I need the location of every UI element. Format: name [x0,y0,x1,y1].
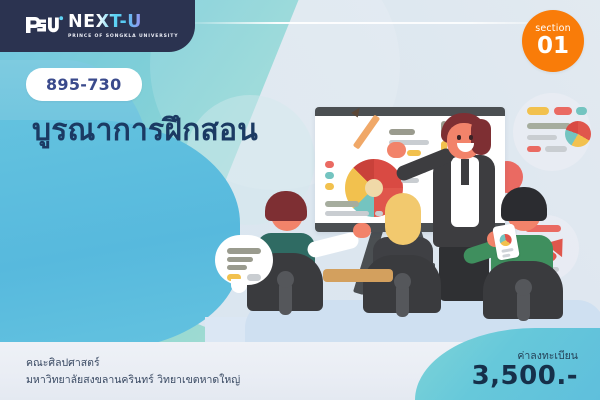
attendee-3-hair [501,187,547,221]
pie-chart-center [365,179,383,197]
presenter-hair-side [471,119,491,155]
whiteboard-top-frame [315,107,505,116]
presenter-tie [461,159,469,185]
desk-surface [323,269,393,282]
logo-tagline: PRINCE OF SONGKLA UNIVERSITY [68,34,178,39]
attendee-1-chair-knob [277,271,294,288]
attendee-2-chair-knob [394,273,411,290]
section-badge-label: section [535,24,571,34]
psu-next-u-logo: NEXT-Ü PRINCE OF SONGKLA UNIVERSITY [24,13,178,39]
section-badge: section 01 [522,10,584,72]
faculty-name: คณะศิลปศาสตร์ [26,355,240,371]
phone-pie-chart [499,233,513,247]
attendee-2-hair [385,193,421,245]
footer: คณะศิลปศาสตร์ มหาวิทยาลัยสงขลานครินทร์ ว… [0,342,600,400]
mini-pie-chart-icon [565,121,591,147]
header-divider-line [180,22,570,24]
price-block: ค่าลงทะเบียน 3,500.- [472,350,578,390]
section-badge-number: 01 [537,35,569,58]
chat-bubble-icon [215,235,273,285]
attendee-1-hand [353,223,371,238]
institution-info: คณะศิลปศาสตร์ มหาวิทยาลัยสงขลานครินทร์ ว… [26,355,240,388]
course-promo-card: NEXT-Ü PRINCE OF SONGKLA UNIVERSITY sect… [0,0,600,400]
attendee-3-chair-knob [515,279,532,296]
presenter-hand [387,142,406,158]
classroom-presentation-illustration [195,85,600,360]
presenter-eye-left [457,135,461,140]
course-code-pill: 895-730 [26,68,142,101]
psu-monogram-icon [24,13,64,37]
presenter-eye-right [469,135,473,140]
university-name: มหาวิทยาลัยสงขลานครินทร์ วิทยาเขตหาดใหญ่ [26,372,240,388]
price-value: 3,500.- [472,363,578,390]
logo-wordmark: NEXT-Ü [68,14,142,32]
attendee-1-hair [265,191,307,221]
attendee-1-arm [306,231,360,259]
